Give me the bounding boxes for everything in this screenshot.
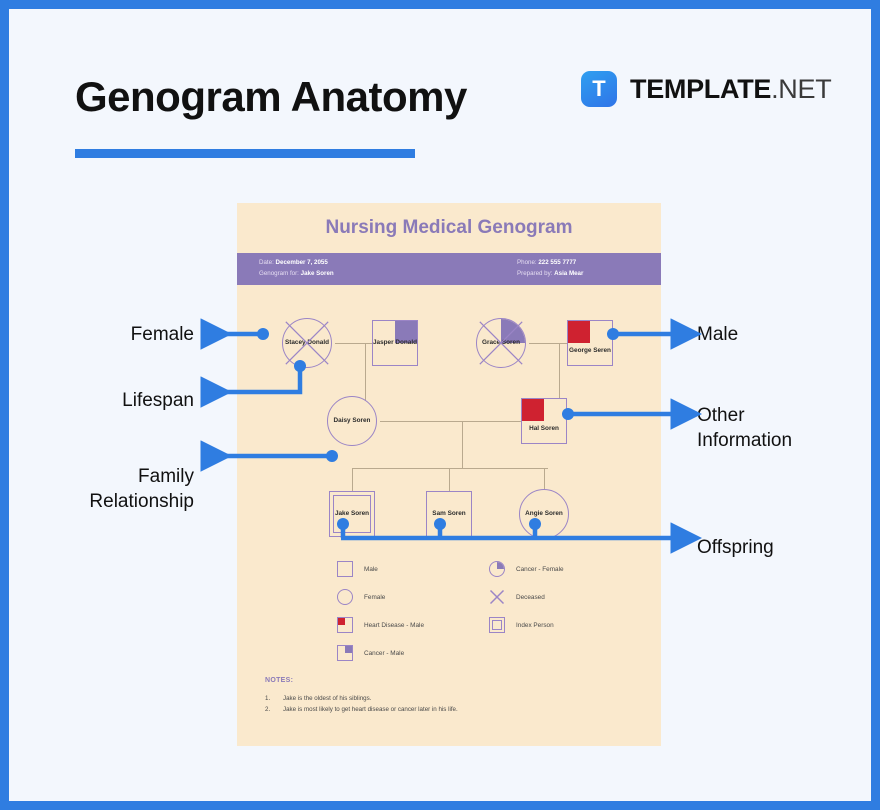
legend-item-cancer-male: Cancer - Male [337,639,424,667]
template-t-icon: T [581,71,617,107]
person-node-daisy[interactable]: Daisy Soren [327,396,377,446]
person-node-sam[interactable]: Sam Soren [426,491,472,537]
legend-label: Index Person [516,622,554,629]
legend-item-cancer-female: Cancer - Female [489,555,564,583]
brand-mark-letter: T [581,78,617,100]
callout-family-relationship: Family Relationship [9,464,194,514]
legend-label: Male [364,566,378,573]
callout-offspring: Offspring [697,535,774,560]
legend-column-1: Male Female Heart Disease - Male [337,555,424,667]
square-cancer-icon [337,645,353,661]
brand-logo-lockup: T TEMPLATE.NET [581,71,831,107]
person-label-george: George Seren [569,347,611,355]
person-label-stacey: Stacey Donald [285,339,329,347]
person-label-angie: Angie Soren [525,510,563,518]
person-label-hal: Hal Soren [529,425,559,433]
person-label-jake: Jake Soren [335,510,369,518]
brand-tld: .NET [771,74,831,104]
person-label-grace: Grace Soren [482,339,520,347]
person-label-jasper: Jasper Donald [373,339,417,347]
heart-disease-marker-icon [568,321,590,343]
legend-item-male: Male [337,555,424,583]
notes-list: 1. Jake is the oldest of his siblings. 2… [265,693,635,715]
square-heart-icon [337,617,353,633]
double-square-icon [489,617,505,633]
heart-disease-marker-icon [522,399,544,421]
link-angie-up [544,468,545,491]
person-node-hal[interactable]: Hal Soren [521,398,567,444]
person-node-stacey[interactable]: Stacey Donald [282,318,332,368]
legend-item-index-person: Index Person [489,611,564,639]
circle-icon [337,589,353,605]
title-underline [75,149,415,158]
sibling-bar [352,468,548,469]
legend-label: Cancer - Male [364,650,404,657]
note-text: Jake is most likely to get heart disease… [283,704,458,715]
genogram-diagram: Stacey Donald Jasper Donald Grace Soren … [237,203,661,746]
person-node-george[interactable]: George Seren [567,320,613,366]
legend-label: Heart Disease - Male [364,622,424,629]
note-item: 1. Jake is the oldest of his siblings. [265,693,635,704]
person-node-grace[interactable]: Grace Soren [476,318,526,368]
link-jake-up [352,468,353,491]
callout-female: Female [9,322,194,347]
circle-cancer-icon [489,561,505,577]
note-number: 2. [265,704,275,715]
legend-label: Female [364,594,385,601]
note-item: 2. Jake is most likely to get heart dise… [265,704,635,715]
legend-label: Cancer - Female [516,566,564,573]
page-border: Genogram Anatomy T TEMPLATE.NET Nursing … [0,0,880,810]
notes-section: NOTES: 1. Jake is the oldest of his sibl… [265,677,635,715]
legend-label: Deceased [516,594,545,601]
person-node-jasper[interactable]: Jasper Donald [372,320,418,366]
genogram-card: Nursing Medical Genogram Date: December … [237,203,661,746]
callout-lifespan: Lifespan [9,388,194,413]
x-icon [489,589,505,605]
person-label-daisy: Daisy Soren [334,417,371,425]
legend-column-2: Cancer - Female Deceased Index Person [489,555,564,639]
note-number: 1. [265,693,275,704]
person-node-angie[interactable]: Angie Soren [519,489,569,539]
legend-item-heart-disease-male: Heart Disease - Male [337,611,424,639]
square-icon [337,561,353,577]
page-canvas: Genogram Anatomy T TEMPLATE.NET Nursing … [9,9,871,801]
brand-wordmark: TEMPLATE.NET [630,74,831,105]
note-text: Jake is the oldest of his siblings. [283,693,371,704]
page-title: Genogram Anatomy [75,73,467,121]
notes-title: NOTES: [265,677,635,684]
legend-item-deceased: Deceased [489,583,564,611]
legend-item-female: Female [337,583,424,611]
callout-male: Male [697,322,738,347]
person-label-sam: Sam Soren [432,510,465,518]
brand-name: TEMPLATE [630,74,771,104]
link-couple3-down [462,421,463,468]
callout-other-information: Other Information [697,403,792,453]
person-node-jake[interactable]: Jake Soren [329,491,375,537]
link-sam-up [449,468,450,491]
